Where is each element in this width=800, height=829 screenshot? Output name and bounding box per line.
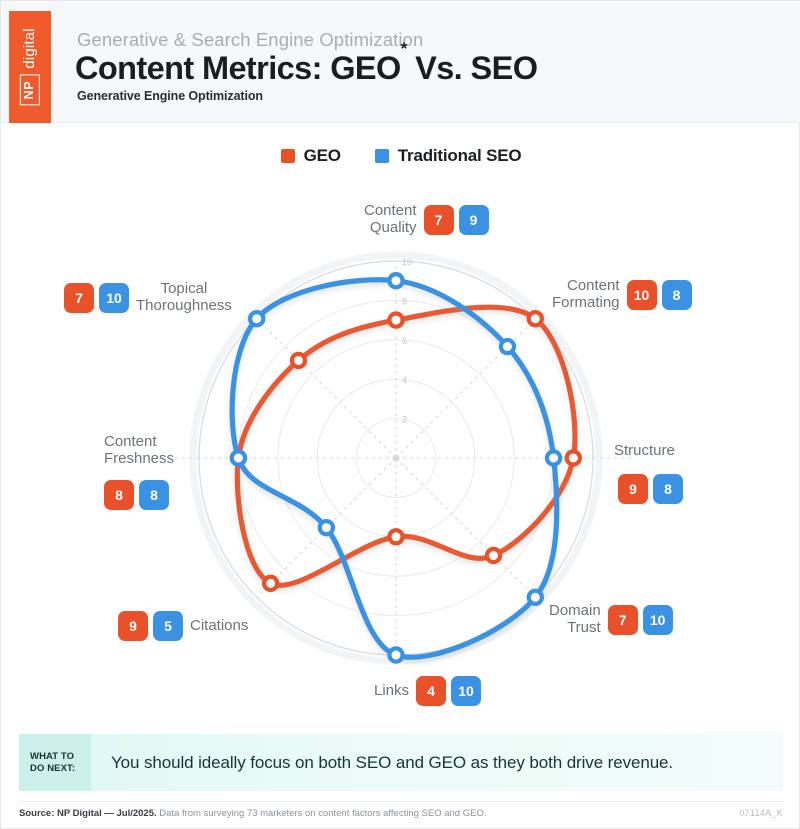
radar-data-point[interactable] xyxy=(529,591,542,604)
callout-tag-line2: DO NEXT: xyxy=(30,763,91,775)
radar-data-point[interactable] xyxy=(487,549,500,562)
chip-seo: 10 xyxy=(643,605,673,635)
callout-tag: WHAT TO DO NEXT: xyxy=(19,734,91,791)
radar-axis-spoke xyxy=(396,458,535,597)
what-to-do-next-callout: WHAT TO DO NEXT: You should ideally focu… xyxy=(19,734,783,791)
legend-label-seo: Traditional SEO xyxy=(398,146,522,166)
page-title-asterisk: * xyxy=(401,39,407,58)
infographic-page: NP digital Generative & Search Engine Op… xyxy=(0,0,800,829)
legend-swatch-seo xyxy=(375,149,389,163)
chip-geo: 7 xyxy=(64,283,94,313)
radar-data-point[interactable] xyxy=(232,451,245,464)
chip-seo: 8 xyxy=(139,480,169,510)
axis-label-text: ContentQuality xyxy=(364,203,417,237)
chip-seo: 5 xyxy=(153,611,183,641)
chip-seo: 10 xyxy=(99,283,129,313)
radar-chart: 246810 ContentQuality 7 9 ContentFormati… xyxy=(1,176,800,721)
chip-geo: 4 xyxy=(416,676,446,706)
radar-data-point[interactable] xyxy=(389,648,402,661)
logo-wordmark: digital xyxy=(22,28,39,69)
radar-data-point[interactable] xyxy=(547,451,560,464)
radar-series-line xyxy=(237,307,575,585)
header-subtitle: Generative Engine Optimization xyxy=(77,89,263,103)
source-note-strong: Source: NP Digital — Jul/2025. xyxy=(19,808,157,819)
radar-data-point[interactable] xyxy=(389,274,402,287)
legend-swatch-geo xyxy=(281,149,295,163)
chip-geo: 7 xyxy=(424,205,454,235)
legend-item-seo[interactable]: Traditional SEO xyxy=(375,146,522,166)
logo-np-mark: NP xyxy=(20,75,40,106)
axis-label-text: Links xyxy=(374,683,409,700)
np-digital-logo: NP digital xyxy=(9,11,51,123)
asset-code: 07114A_K xyxy=(739,808,783,818)
radar-series-geo xyxy=(232,307,580,590)
radar-data-point[interactable] xyxy=(501,340,514,353)
page-title: Content Metrics: GEO* Vs. SEO xyxy=(75,50,537,87)
footer: Source: NP Digital — Jul/2025. Data from… xyxy=(19,801,783,819)
radar-data-point[interactable] xyxy=(389,530,402,543)
radar-data-point[interactable] xyxy=(292,354,305,367)
chip-geo: 9 xyxy=(118,611,148,641)
axis-label-content-quality: ContentQuality 7 9 xyxy=(364,203,489,237)
chip-geo: 7 xyxy=(608,605,638,635)
axis-label-domain-trust: DomainTrust 7 10 xyxy=(549,603,673,637)
value-chips: 4 10 xyxy=(416,676,481,706)
axis-label-text: ContentFormating xyxy=(552,278,620,312)
header: NP digital Generative & Search Engine Op… xyxy=(1,1,800,123)
radar-data-point[interactable] xyxy=(529,312,542,325)
radar-tick-label: 4 xyxy=(402,375,407,385)
axis-label-text: Citations xyxy=(190,618,248,635)
axis-label-content-freshness: ContentFreshness 8 8 xyxy=(104,434,174,510)
radar-series-line xyxy=(232,280,557,657)
callout-text: You should ideally focus on both SEO and… xyxy=(91,734,783,791)
chip-geo: 10 xyxy=(627,280,657,310)
header-kicker: Generative & Search Engine Optimization xyxy=(77,29,423,51)
chip-seo: 8 xyxy=(662,280,692,310)
radar-data-point[interactable] xyxy=(250,312,263,325)
legend-label-geo: GEO xyxy=(304,146,341,166)
axis-label-topical-thoroughness: 7 10 TopicalThoroughness xyxy=(64,281,232,315)
value-chips: 7 9 xyxy=(424,205,489,235)
radar-tick-label: 6 xyxy=(402,336,407,346)
axis-label-text: ContentFreshness xyxy=(104,434,174,468)
value-chips: 10 8 xyxy=(627,280,692,310)
chip-seo: 9 xyxy=(459,205,489,235)
logo-inner: NP digital xyxy=(20,28,40,105)
chip-geo: 9 xyxy=(618,474,648,504)
page-title-tail: Vs. SEO xyxy=(407,50,538,86)
value-chips: 9 5 xyxy=(118,611,183,641)
radar-axis-spoke xyxy=(396,319,535,458)
axis-label-structure: Structure 9 8 xyxy=(614,443,683,504)
radar-tick-label: 2 xyxy=(402,415,407,425)
radar-data-point[interactable] xyxy=(389,314,402,327)
axis-label-links: Links 4 10 xyxy=(374,676,481,706)
callout-tag-line1: WHAT TO xyxy=(30,751,91,763)
radar-data-point[interactable] xyxy=(567,451,580,464)
axis-label-text: Structure xyxy=(614,443,675,460)
axis-label-content-formating: ContentFormating 10 8 xyxy=(552,278,692,312)
value-chips: 7 10 xyxy=(608,605,673,635)
value-chips: 8 8 xyxy=(104,480,169,510)
radar-tick-label: 8 xyxy=(402,296,407,306)
axis-label-text: DomainTrust xyxy=(549,603,601,637)
chart-legend: GEO Traditional SEO xyxy=(1,146,800,166)
source-note-rest: Data from surveying 73 marketers on cont… xyxy=(157,808,487,819)
axis-label-text: TopicalThoroughness xyxy=(136,281,232,315)
radar-data-point[interactable] xyxy=(320,521,333,534)
radar-data-point[interactable] xyxy=(264,577,277,590)
chip-seo: 10 xyxy=(451,676,481,706)
value-chips: 7 10 xyxy=(64,283,129,313)
radar-tick-label: 10 xyxy=(402,257,412,267)
axis-label-citations: 9 5 Citations xyxy=(118,611,248,641)
chip-geo: 8 xyxy=(104,480,134,510)
legend-item-geo[interactable]: GEO xyxy=(281,146,341,166)
chip-seo: 8 xyxy=(653,474,683,504)
page-title-main: Content Metrics: GEO xyxy=(75,50,401,86)
source-note: Source: NP Digital — Jul/2025. Data from… xyxy=(19,808,486,819)
value-chips: 9 8 xyxy=(618,474,683,504)
